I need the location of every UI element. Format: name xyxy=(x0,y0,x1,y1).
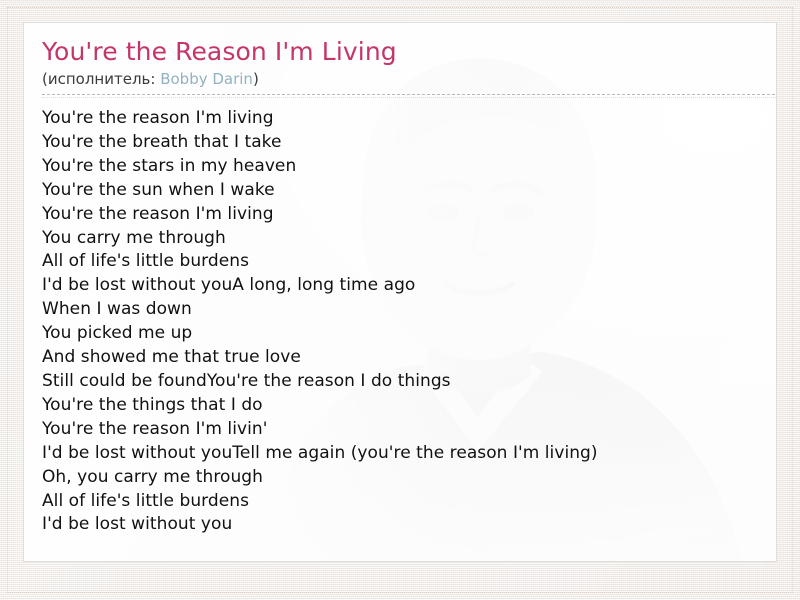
header-divider xyxy=(42,94,777,95)
lyric-line: You're the reason I'm living xyxy=(42,107,764,131)
slide-header: You're the Reason I'm Living (исполнител… xyxy=(42,37,760,89)
lyric-line: Oh, you carry me through xyxy=(42,466,764,490)
lyric-line: You're the reason I'm livin' xyxy=(42,418,764,442)
performer-suffix-label: ) xyxy=(253,70,259,88)
lyric-line: I'd be lost without youA long, long time… xyxy=(42,274,764,298)
lyric-line: You're the reason I'm living xyxy=(42,203,764,227)
lyric-line: You're the breath that I take xyxy=(42,131,764,155)
lyric-line: All of life's little burdens xyxy=(42,250,764,274)
header-divider-shadow xyxy=(42,97,777,98)
lyric-line: When I was down xyxy=(42,298,764,322)
performer-prefix-label: (исполнитель: xyxy=(42,70,160,88)
lyrics-body: You're the reason I'm living You're the … xyxy=(42,107,764,537)
lyric-line: You carry me through xyxy=(42,227,764,251)
presentation-slide: You're the Reason I'm Living (исполнител… xyxy=(0,0,800,600)
lyric-line: You're the things that I do xyxy=(42,394,764,418)
lyric-line: All of life's little burdens xyxy=(42,490,764,514)
lyric-line: Still could be foundYou're the reason I … xyxy=(42,370,764,394)
song-title: You're the Reason I'm Living xyxy=(42,37,760,67)
lyric-line: I'd be lost without you xyxy=(42,513,764,537)
performer-link[interactable]: Bobby Darin xyxy=(160,70,253,88)
lyric-line: You picked me up xyxy=(42,322,764,346)
lyric-line: And showed me that true love xyxy=(42,346,764,370)
slide-content-panel: You're the Reason I'm Living (исполнител… xyxy=(23,22,777,562)
performer-line: (исполнитель: Bobby Darin) xyxy=(42,70,760,89)
lyric-line: I'd be lost without youTell me again (yo… xyxy=(42,442,764,466)
lyric-line: You're the stars in my heaven xyxy=(42,155,764,179)
lyric-line: You're the sun when I wake xyxy=(42,179,764,203)
